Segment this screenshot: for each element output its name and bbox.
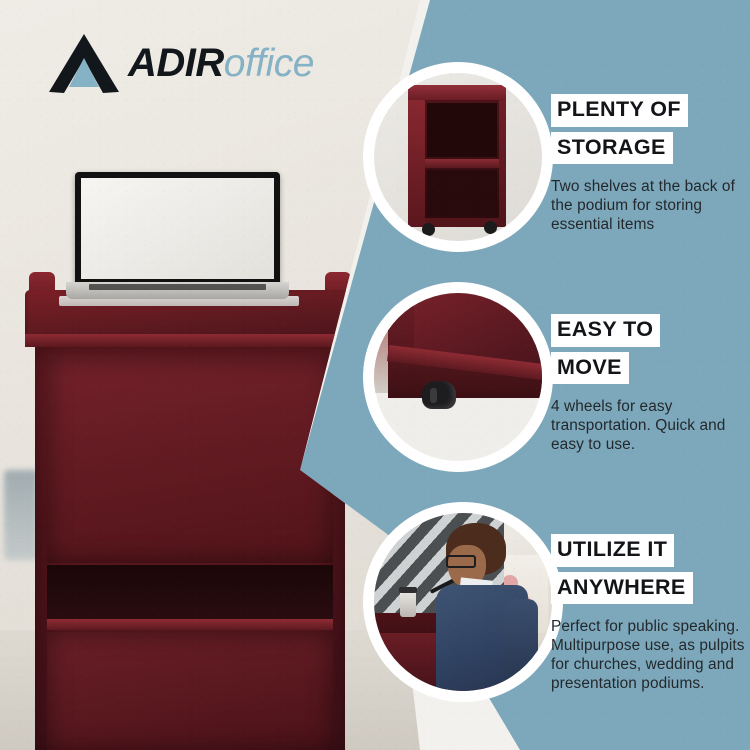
podium-front-face [35,347,345,750]
man-speaking-at-podium-photo [374,513,552,691]
podium-upper-panel [47,355,333,563]
feature-image-versatility [374,513,552,691]
feature-heading-line-1: UTILIZE IT [551,534,674,567]
feature-body-text: 4 wheels for easy transportation. Quick … [551,397,750,454]
shelf-lower-compartment [427,170,497,216]
shelf-divider-board [425,159,499,168]
brand-name-primary: ADIR [128,43,224,83]
feature-callout-storage: PLENTY OF STORAGE Two shelves at the bac… [551,94,750,234]
shelf-left-side-panel [408,85,425,227]
shelf-top-board [408,85,506,100]
podium-rear-shelves-photo [374,73,542,241]
brand-logo: ADIR office [48,32,314,94]
podium-shadow-band [47,565,333,621]
shelf-caster-left-icon [422,223,435,236]
brand-name-secondary: office [224,44,314,83]
speaker-arm [504,599,538,691]
shelf-caster-right-icon [484,221,497,234]
eyeglasses-icon [446,555,476,568]
podium-caster-wheel-closeup-photo [374,293,542,461]
feature-image-storage [374,73,542,241]
podium-front-edge [25,334,355,347]
feature-body-text: Two shelves at the back of the podium fo… [551,177,750,234]
podium-lower-panel [47,632,333,750]
infographic-canvas: ADIR office [0,0,750,750]
podium-middle-rail [47,619,333,630]
feature-callout-mobility: EASY TO MOVE 4 wheels for easy transport… [551,314,750,454]
brand-wordmark: ADIR office [128,43,314,83]
feature-heading-line-1: EASY TO [551,314,660,347]
laptop-lid [75,172,280,284]
feature-heading-line-2: MOVE [551,352,629,385]
feature-image-mobility [374,293,542,461]
shelf-upper-compartment [427,103,497,157]
caster-wheel-icon [422,381,456,409]
laptop-on-podium [75,172,280,297]
feature-heading-line-2: ANYWHERE [551,572,693,605]
feature-body-text: Perfect for public speaking. Multipurpos… [551,617,750,693]
laptop-keyboard [89,284,266,290]
laptop-screen [81,178,274,279]
podium-body [25,290,355,750]
feature-heading-line-1: PLENTY OF [551,94,688,127]
feature-callout-versatility: UTILIZE IT ANYWHERE Perfect for public s… [551,534,750,693]
coffee-cup-icon [400,591,416,617]
adir-chevron-logo-icon [48,32,120,94]
feature-heading-line-2: STORAGE [551,132,673,165]
